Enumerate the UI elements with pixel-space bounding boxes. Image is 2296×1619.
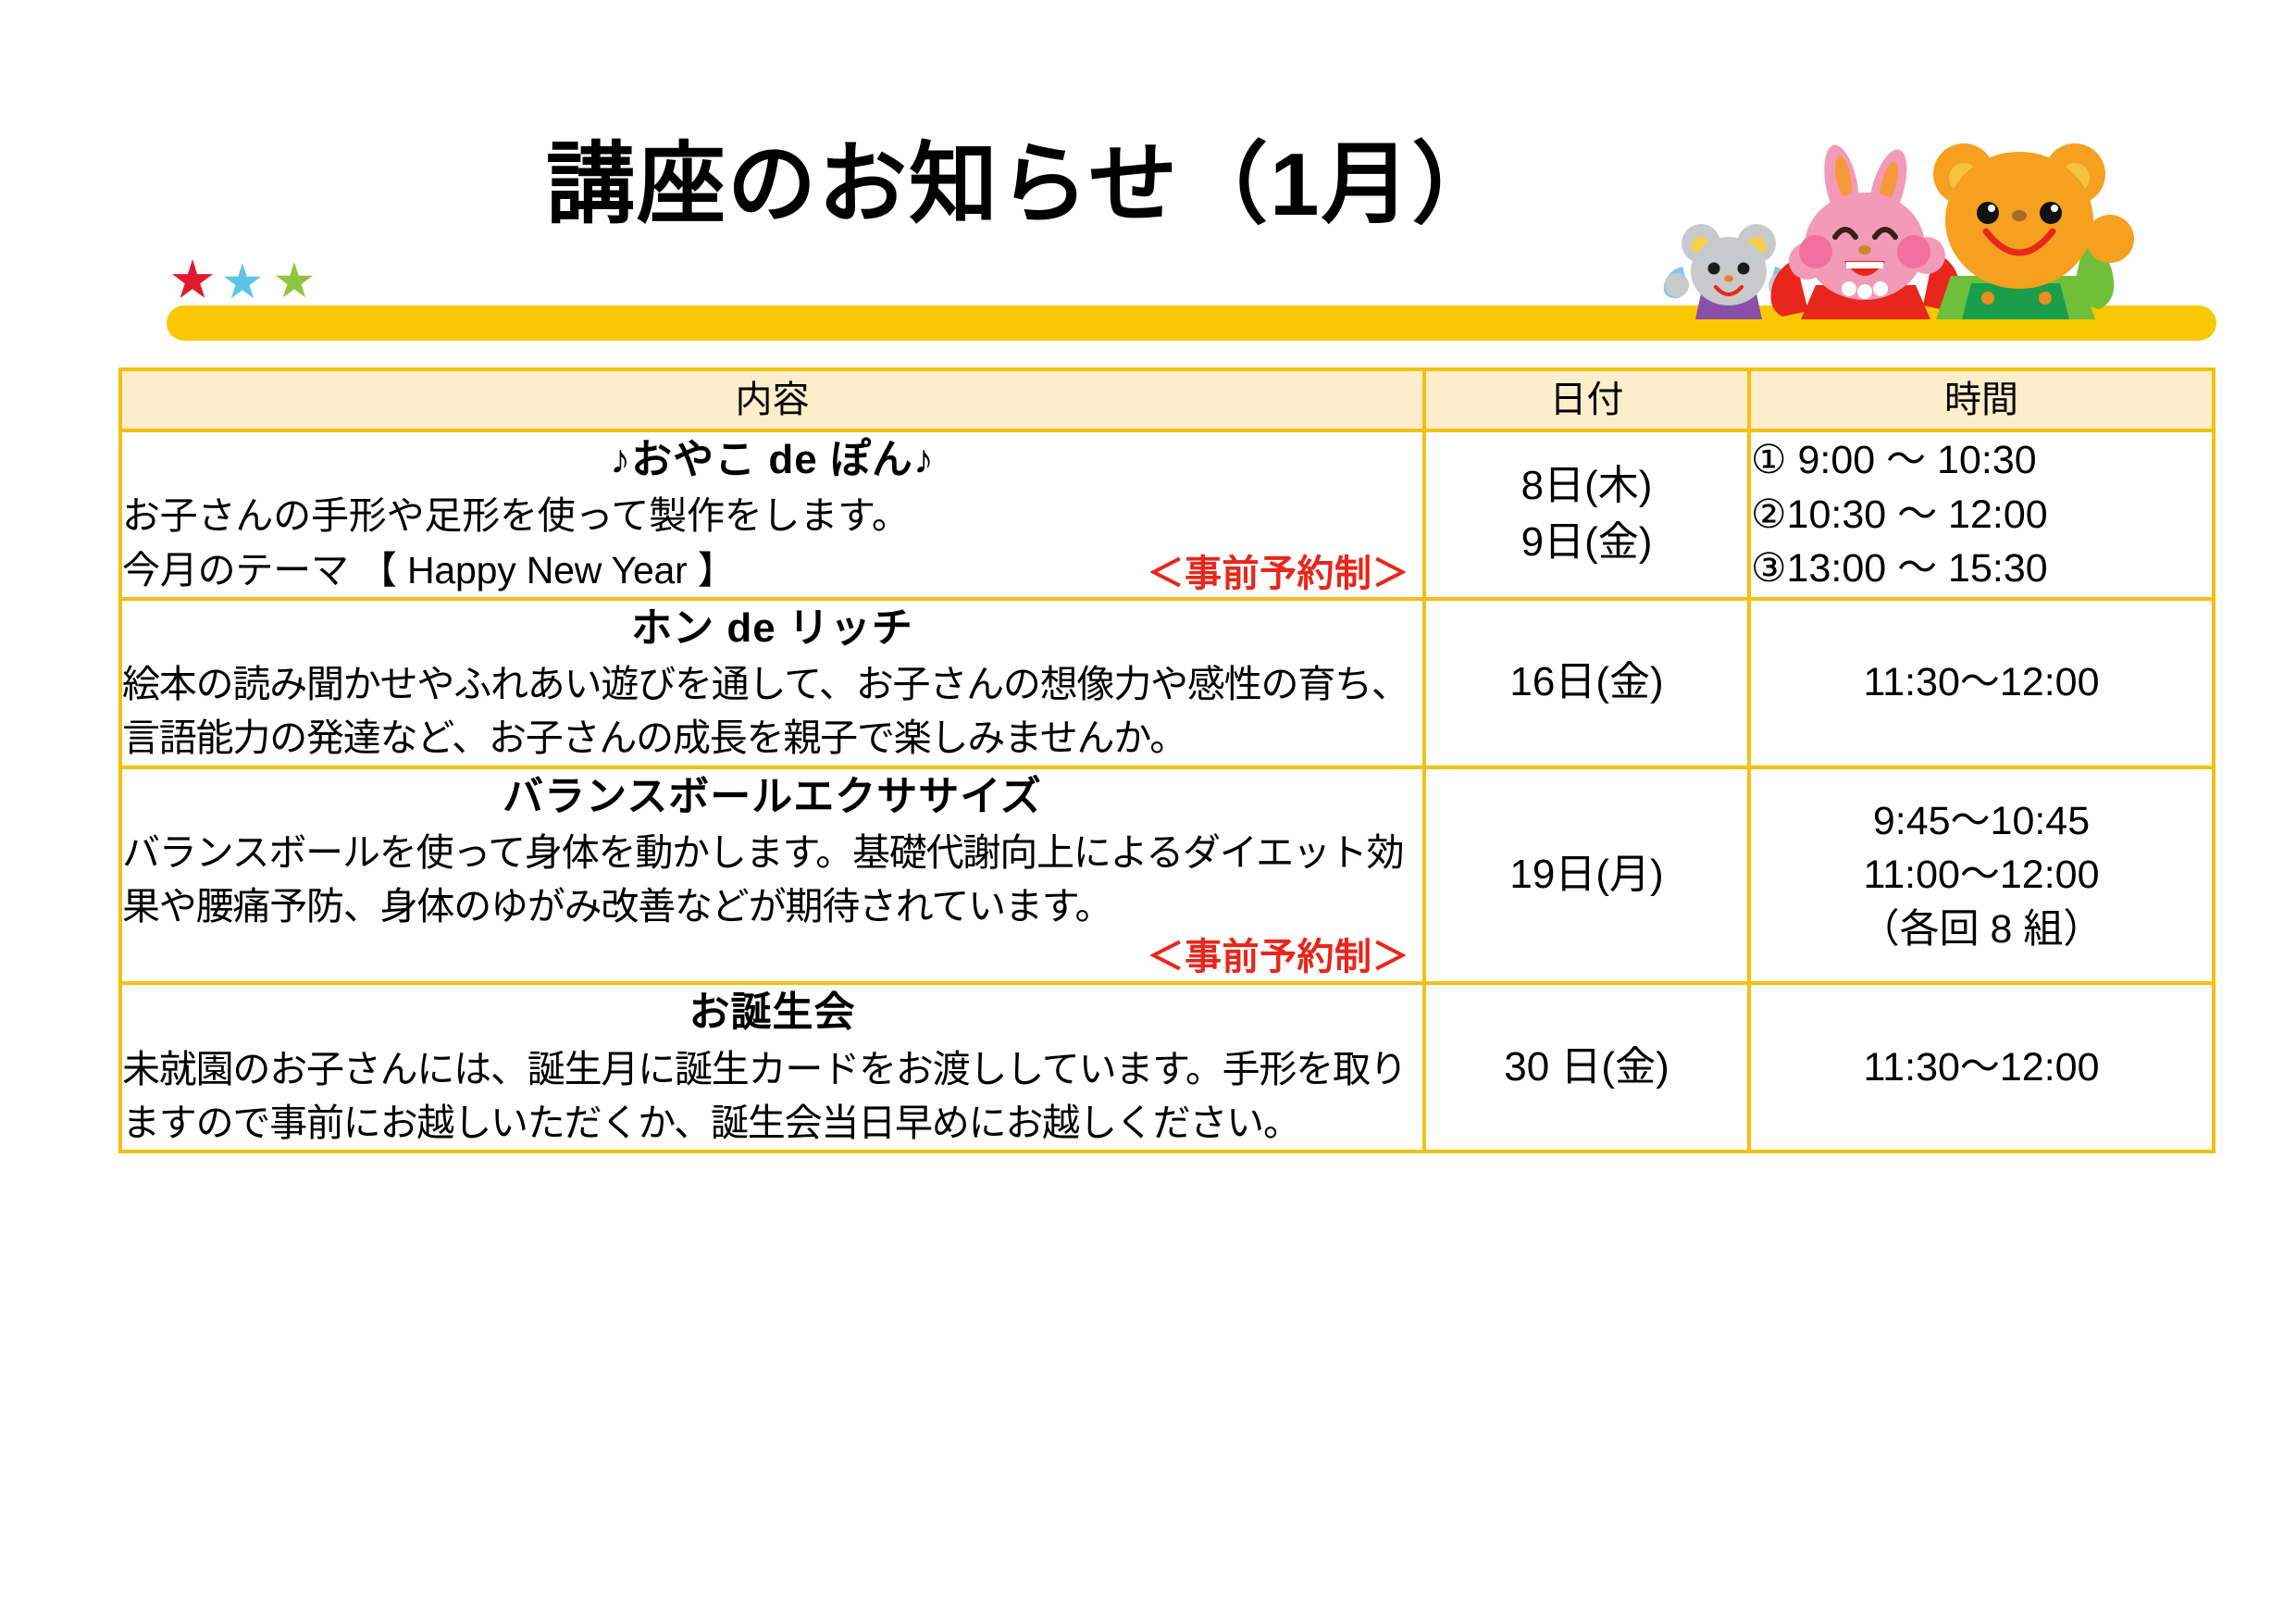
- course-title: お誕生会: [122, 985, 1422, 1040]
- course-title: ♪おやこ de ぽん♪: [122, 432, 1422, 487]
- rabbit-character: [1771, 143, 1961, 319]
- bear-character: [1933, 143, 2134, 319]
- header-band: 講座のお知らせ（1月）: [0, 0, 2296, 342]
- table-row: お誕生会 未就園のお子さんには、誕生月に誕生カードをお渡ししています。手形を取り…: [120, 983, 2214, 1152]
- table-header-row: 内容 日付 時間: [120, 369, 2214, 430]
- course-description-line: お子さんの手形や足形を使って製作をします。: [122, 489, 1422, 542]
- course-date-cell: 30 日(金): [1424, 983, 1749, 1152]
- course-time-cell: ① 9:00 ～ 10:30 ②10:30 ～ 12:00 ③13:00 ～ 1…: [1749, 430, 2214, 599]
- course-description-line: 絵本の読み聞かせやふれあい遊びを通して、お子さんの想像力や感性の育ち、言語能力の…: [122, 657, 1422, 765]
- course-title: ホン de リッチ: [122, 601, 1422, 655]
- course-description-line: 未就園のお子さんには、誕生月に誕生カードをお渡ししています。手形を取りますので事…: [122, 1042, 1422, 1150]
- course-description-line: バランスボールを使って身体を動かします。基礎代謝向上によるダイエット効果や腰痛予…: [122, 826, 1422, 933]
- page-title: 講座のお知らせ（1月）: [546, 139, 1502, 232]
- reservation-required-note: ＜事前予約制＞: [1148, 543, 1423, 597]
- course-title: バランスボールエクササイズ: [122, 769, 1422, 824]
- reservation-required-note: ＜事前予約制＞: [122, 933, 1422, 981]
- course-date-cell: 8日(木) 9日(金): [1424, 430, 1749, 599]
- star-blue-icon: [223, 263, 262, 302]
- course-content-cell: ♪おやこ de ぽん♪ お子さんの手形や足形を使って製作をします。 ＜事前予約制…: [120, 430, 1424, 599]
- course-date-cell: 16日(金): [1424, 599, 1749, 767]
- course-time-cell: 9:45～10:45 11:00～12:00 （各回 8 組）: [1749, 767, 2214, 984]
- table-row: ホン de リッチ 絵本の読み聞かせやふれあい遊びを通して、お子さんの想像力や感…: [120, 599, 2214, 767]
- star-red-icon: [171, 259, 214, 302]
- mascot-characters-illustration: [1657, 120, 2156, 319]
- star-decoration-group: [171, 257, 329, 302]
- star-green-icon: [275, 262, 314, 301]
- course-time-cell: 11:30～12:00: [1749, 599, 2214, 767]
- course-content-cell: お誕生会 未就園のお子さんには、誕生月に誕生カードをお渡ししています。手形を取り…: [120, 983, 1424, 1152]
- schedule-table: 内容 日付 時間 ♪おやこ de ぽん♪ お子さんの手形や足形を使って製作をしま…: [118, 367, 2215, 1153]
- table-row: ♪おやこ de ぽん♪ お子さんの手形や足形を使って製作をします。 ＜事前予約制…: [120, 430, 2214, 599]
- table-row: バランスボールエクササイズ バランスボールを使って身体を動かします。基礎代謝向上…: [120, 767, 2214, 984]
- course-time-cell: 11:30～12:00: [1749, 983, 2214, 1152]
- course-content-cell: バランスボールエクササイズ バランスボールを使って身体を動かします。基礎代謝向上…: [120, 767, 1424, 984]
- course-content-cell: ホン de リッチ 絵本の読み聞かせやふれあい遊びを通して、お子さんの想像力や感…: [120, 599, 1424, 767]
- column-header-date: 日付: [1424, 369, 1749, 430]
- column-header-time: 時間: [1749, 369, 2214, 430]
- column-header-content: 内容: [120, 369, 1424, 430]
- course-date-cell: 19日(月): [1424, 767, 1749, 984]
